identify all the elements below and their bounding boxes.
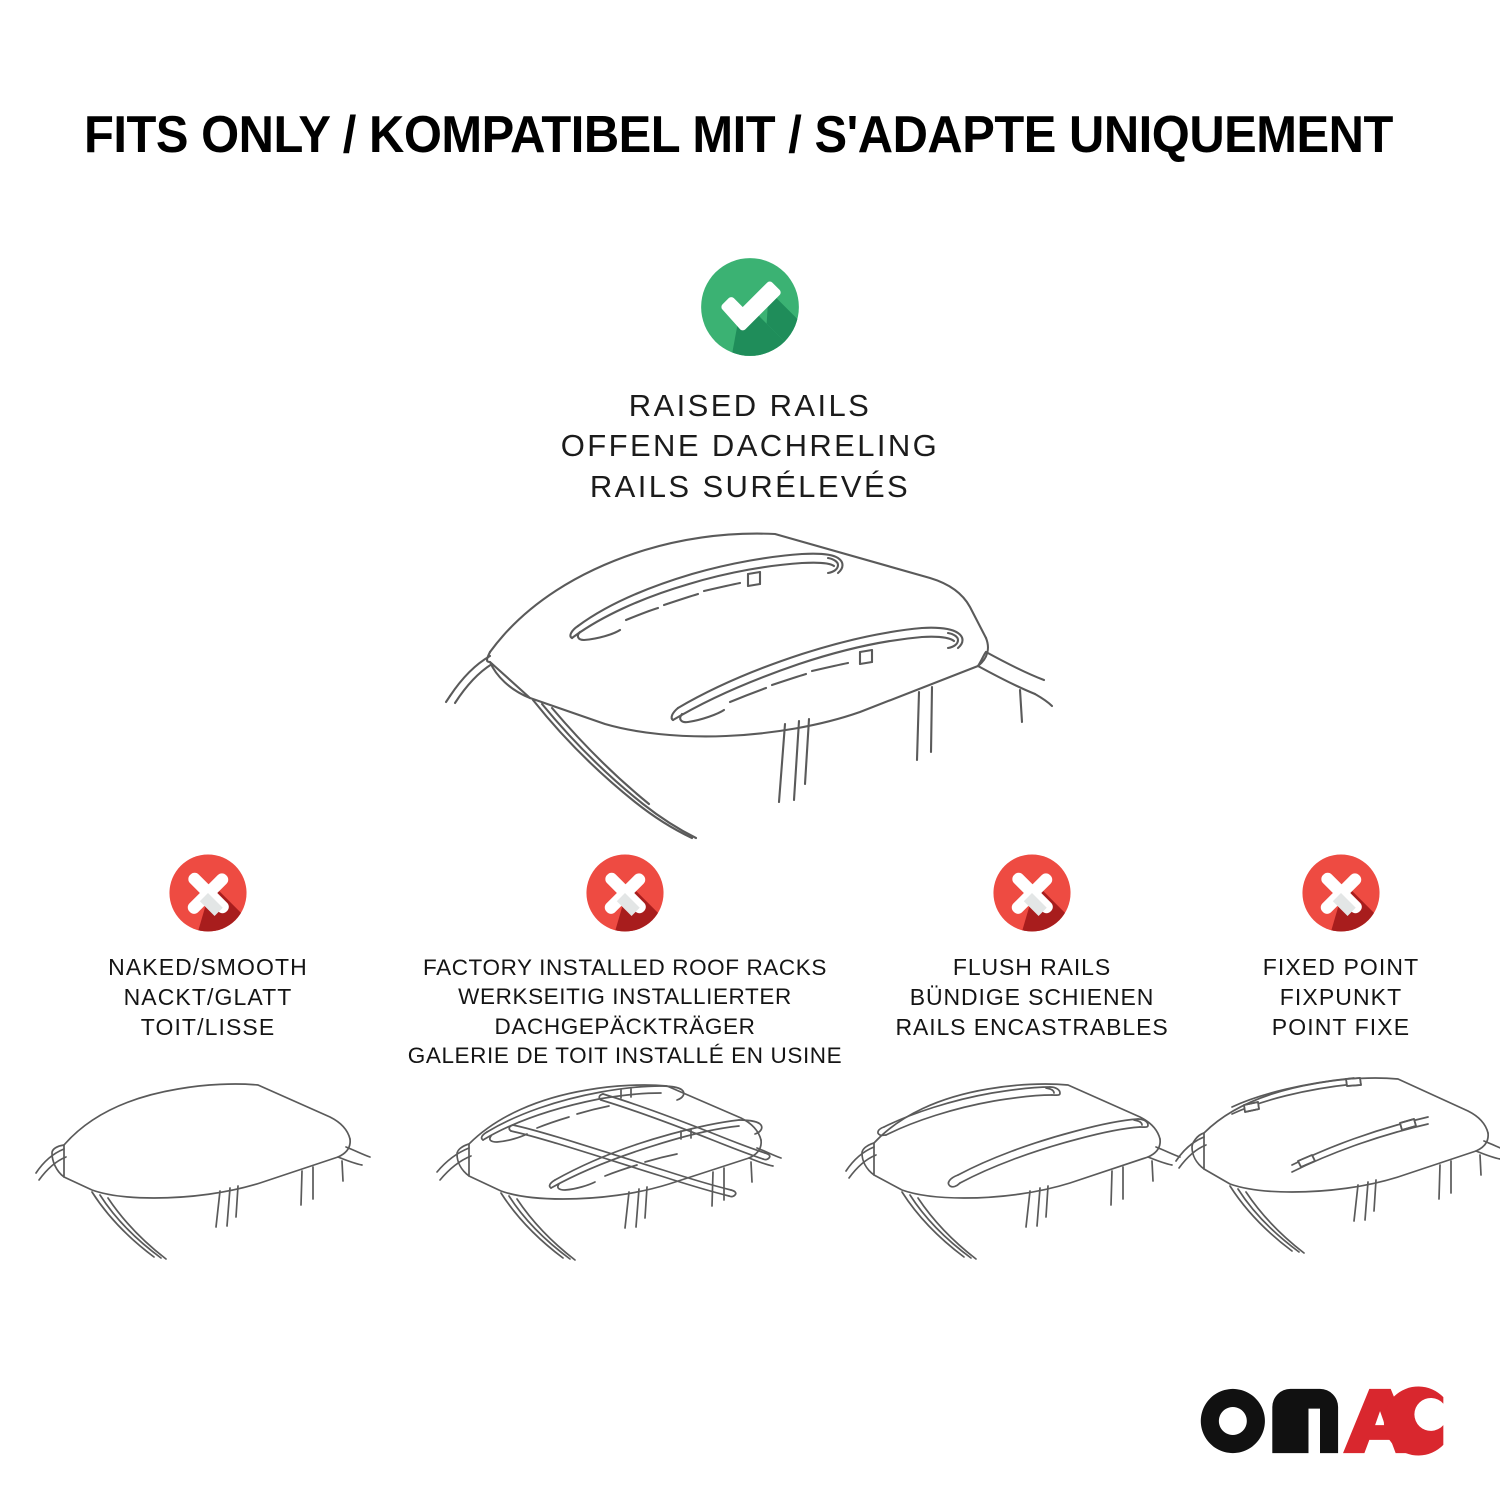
compatible-section: RAISED RAILS OFFENE DACHRELING RAILS SUR…: [0, 255, 1500, 507]
car-roof-naked-smooth-illustration: [30, 1065, 386, 1300]
incompatible-caption-line: TOIT/LISSE: [30, 1013, 386, 1043]
compatible-caption-line: RAILS SURÉLEVÉS: [0, 467, 1500, 507]
incompatible-column-naked-smooth: NAKED/SMOOTH NACKT/GLATT TOIT/LISSE: [30, 852, 386, 1300]
x-circle-icon: [991, 852, 1073, 934]
incompatible-caption-line: POINT FIXE: [1206, 1013, 1476, 1043]
x-circle-icon: [1300, 852, 1382, 934]
x-circle-icon: [584, 852, 666, 934]
incompatible-caption: FLUSH RAILS BÜNDIGE SCHIENEN RAILS ENCAS…: [862, 953, 1202, 1043]
check-circle-icon: [698, 255, 802, 359]
compatible-caption-line: OFFENE DACHRELING: [0, 426, 1500, 466]
incompatible-caption-line: FIXED POINT: [1206, 953, 1476, 983]
page-title: FITS ONLY / KOMPATIBEL MIT / S'ADAPTE UN…: [84, 108, 1344, 163]
incompatible-caption: FACTORY INSTALLED ROOF RACKS WERKSEITIG …: [392, 953, 858, 1070]
incompatible-caption-line: FIXPUNKT: [1206, 983, 1476, 1013]
incompatible-caption-line: BÜNDIGE SCHIENEN: [862, 983, 1202, 1013]
incompatible-caption-line: NACKT/GLATT: [30, 983, 386, 1013]
incompatible-caption-line: FLUSH RAILS: [862, 953, 1202, 983]
logo-letter-m: [1272, 1389, 1338, 1453]
incompatible-caption-line: WERKSEITIG INSTALLIERTER: [392, 982, 858, 1011]
incompatible-caption: NAKED/SMOOTH NACKT/GLATT TOIT/LISSE: [30, 953, 386, 1043]
incompatible-caption-line: GALERIE DE TOIT INSTALLÉ EN USINE: [392, 1041, 858, 1070]
car-roof-factory-rack-illustration: [392, 1070, 858, 1305]
compatible-caption: RAISED RAILS OFFENE DACHRELING RAILS SUR…: [0, 386, 1500, 507]
omac-logo: [1196, 1384, 1444, 1458]
car-roof-raised-rails-illustration: [430, 512, 1070, 842]
incompatible-column-flush-rails: FLUSH RAILS BÜNDIGE SCHIENEN RAILS ENCAS…: [862, 852, 1202, 1300]
incompatible-column-fixed-point: FIXED POINT FIXPUNKT POINT FIXE: [1206, 852, 1476, 1300]
incompatible-caption-line: FACTORY INSTALLED ROOF RACKS: [392, 953, 858, 982]
incompatible-column-factory-rack: FACTORY INSTALLED ROOF RACKS WERKSEITIG …: [392, 852, 858, 1305]
logo-letter-o: [1201, 1389, 1265, 1453]
compatible-caption-line: RAISED RAILS: [0, 386, 1500, 426]
car-roof-flush-rails-illustration: [840, 1065, 1202, 1300]
incompatible-caption-line: NAKED/SMOOTH: [30, 953, 386, 983]
x-circle-icon: [167, 852, 249, 934]
incompatible-section: NAKED/SMOOTH NACKT/GLATT TOIT/LISSE: [0, 852, 1500, 1472]
incompatible-caption: FIXED POINT FIXPUNKT POINT FIXE: [1206, 953, 1476, 1043]
incompatible-caption-line: RAILS ENCASTRABLES: [862, 1013, 1202, 1043]
incompatible-caption-line: DACHGEPÄCKTRÄGER: [392, 1012, 858, 1041]
car-roof-fixed-point-illustration: [1170, 1065, 1476, 1300]
